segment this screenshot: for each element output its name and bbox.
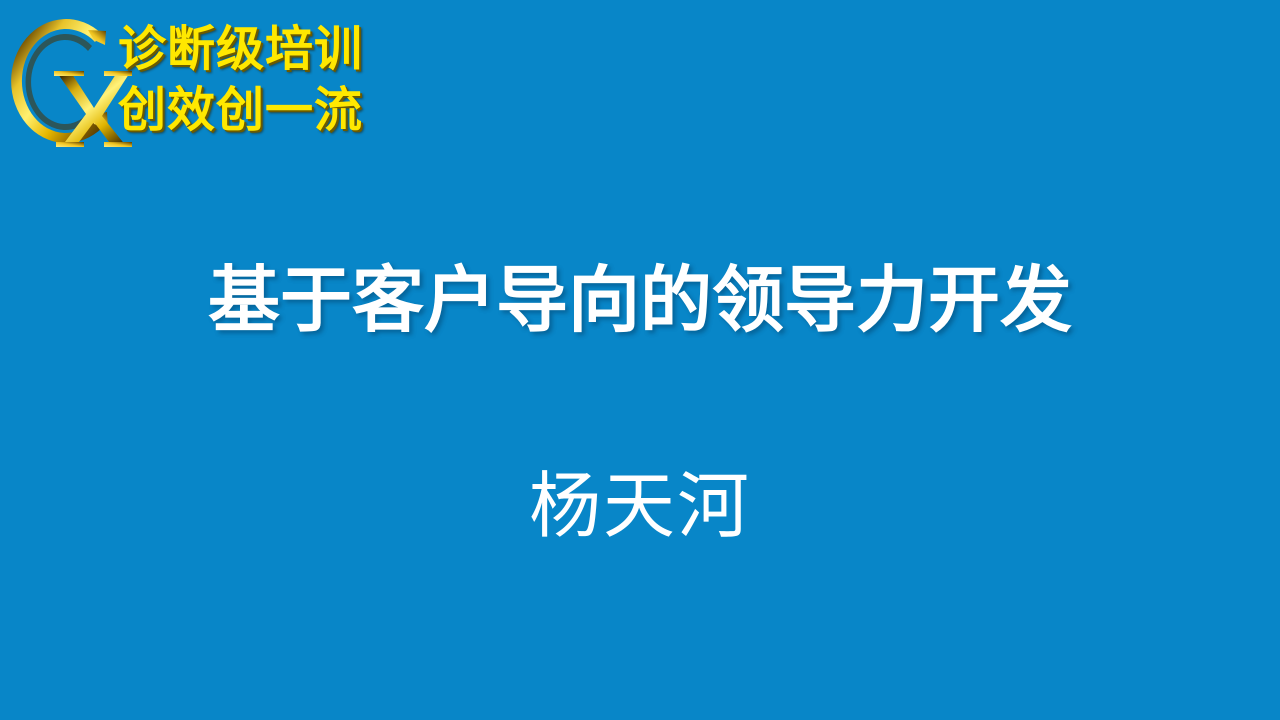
brand-tagline-line-1: 诊断级培训: [118, 14, 388, 79]
presenter-name: 杨天河: [0, 458, 1280, 554]
brand-logo-text: 诊断级培训 创效创一流: [118, 14, 388, 148]
monogram-letter-c: [11, 19, 108, 143]
brand-tagline-line-2: 创效创一流: [118, 79, 388, 140]
presentation-slide: 诊断级培训 创效创一流 基于客户导向的领导力开发 杨天河: [0, 0, 1280, 720]
slide-title: 基于客户导向的领导力开发: [0, 252, 1280, 348]
cx-monogram-icon: [2, 12, 132, 147]
brand-logo: 诊断级培训 创效创一流: [0, 8, 400, 148]
